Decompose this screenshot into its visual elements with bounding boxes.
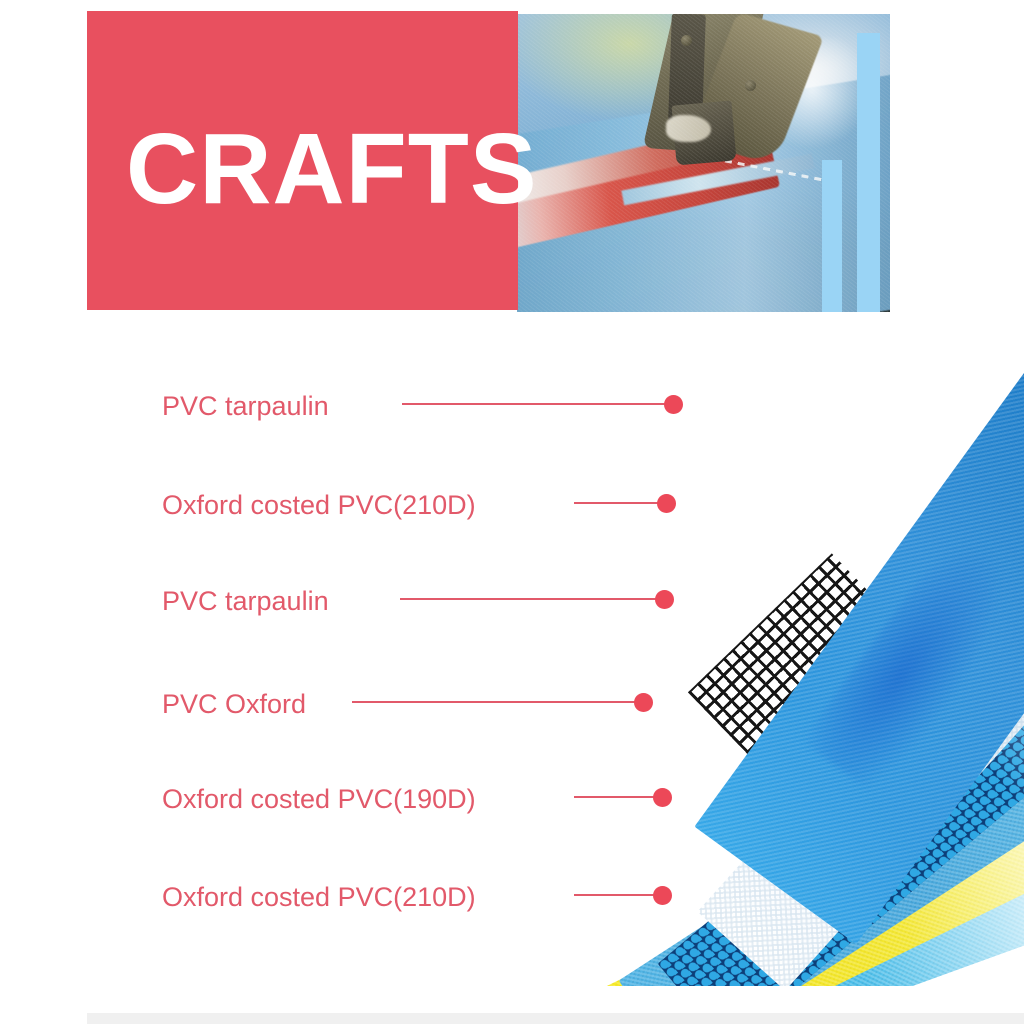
- callout-dot: [657, 494, 676, 513]
- accent-bar-tall: [857, 33, 880, 312]
- callout-leader-line: [574, 796, 663, 798]
- callout-leader-line: [400, 598, 665, 600]
- accent-bar-short: [822, 160, 842, 312]
- callout-leader-line: [352, 701, 644, 703]
- callout-label: Oxford costed PVC(210D): [162, 880, 476, 914]
- callout-leader-line: [574, 894, 663, 896]
- footer-divider: [87, 1013, 1024, 1024]
- callout-label: PVC tarpaulin: [162, 584, 329, 618]
- callout-dot: [655, 590, 674, 609]
- callout-label: Oxford costed PVC(190D): [162, 782, 476, 816]
- callout-leader-line: [574, 502, 667, 504]
- callout-dot: [664, 395, 683, 414]
- callout-label: PVC Oxford: [162, 687, 306, 721]
- callout-dot: [653, 788, 672, 807]
- callout-leader-line: [402, 403, 674, 405]
- callout-dot: [653, 886, 672, 905]
- callout-dot: [634, 693, 653, 712]
- fabric-swatch-fan: [520, 326, 1024, 986]
- headline-red-block: CRAFTS: [87, 11, 518, 310]
- page-title: CRAFTS: [126, 119, 538, 219]
- hero-section: CRAFTS: [0, 0, 1024, 320]
- crafts-infographic-page: CRAFTS PVC ta: [0, 0, 1024, 1024]
- callout-label: PVC tarpaulin: [162, 389, 329, 423]
- callout-label: Oxford costed PVC(210D): [162, 488, 476, 522]
